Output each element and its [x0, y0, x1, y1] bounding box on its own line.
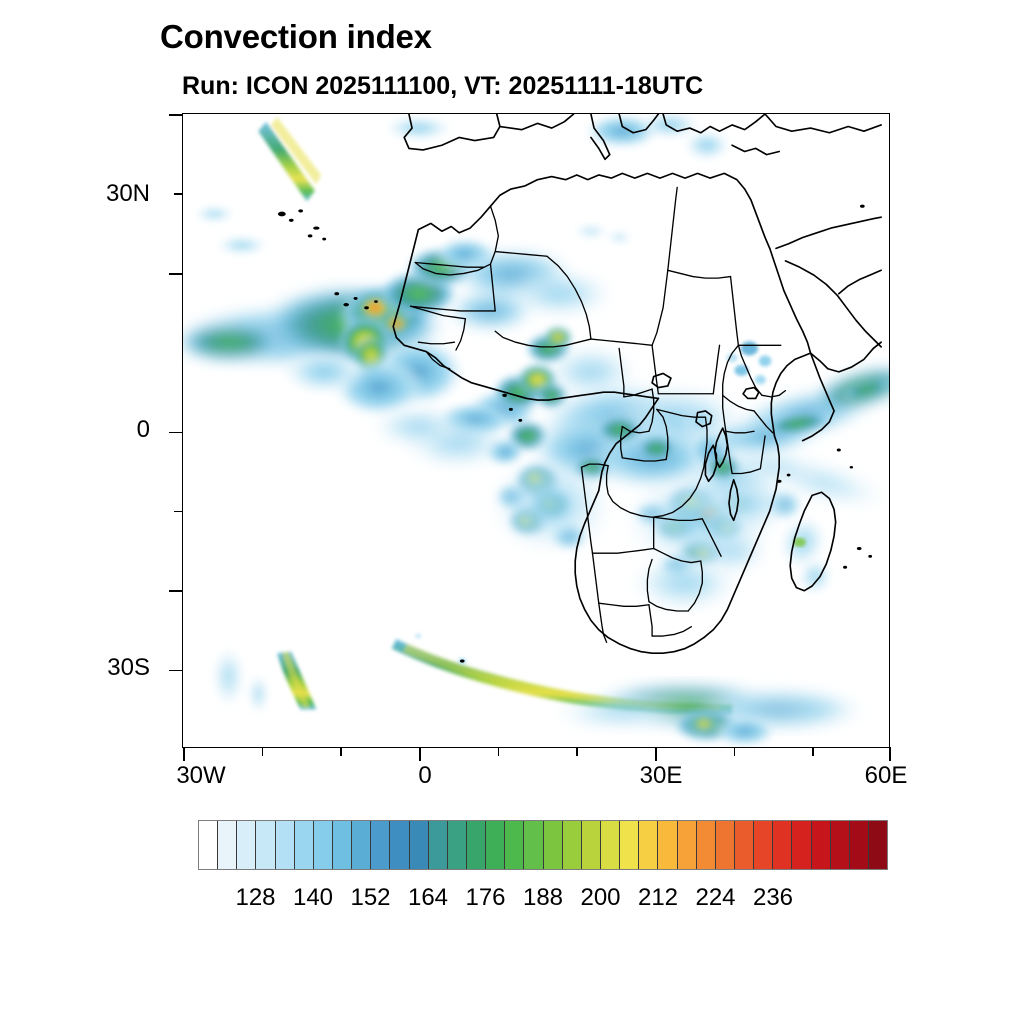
colorbar-cell-26 [697, 821, 716, 869]
colorbar-cell-25 [678, 821, 697, 869]
colorbar-cell-18 [544, 821, 563, 869]
x-tick-30E [655, 747, 657, 761]
x-axis-label-60E: 60E [865, 762, 908, 790]
x-tick-20E [576, 747, 578, 756]
colorbar-cell-15 [486, 821, 505, 869]
colorbar-label-188: 188 [523, 884, 563, 912]
colorbar-label-152: 152 [350, 884, 390, 912]
x-tick-60E [889, 747, 891, 761]
colorbar-cell-29 [754, 821, 773, 869]
colorbar-cell-28 [735, 821, 754, 869]
colorbar-label-140: 140 [293, 884, 333, 912]
x-tick-50E [812, 747, 814, 756]
y-tick-20N [174, 193, 183, 195]
y-tick-10N [169, 273, 183, 275]
y-tick-10S [174, 511, 183, 513]
colorbar-label-224: 224 [695, 884, 735, 912]
colorbar-cell-27 [716, 821, 735, 869]
map-canvas [183, 114, 889, 747]
colorbar-label-176: 176 [465, 884, 505, 912]
colorbar[interactable] [198, 820, 888, 870]
colorbar-cell-20 [582, 821, 601, 869]
colorbar-cell-10 [390, 821, 409, 869]
y-tick-20S [169, 590, 183, 592]
colorbar-cell-17 [524, 821, 543, 869]
colorbar-cell-13 [448, 821, 467, 869]
x-axis-label-30E: 30E [640, 762, 683, 790]
page-title: Convection index [160, 18, 432, 56]
colorbar-cell-23 [639, 821, 658, 869]
colorbar-cell-6 [314, 821, 333, 869]
colorbar-label-164: 164 [408, 884, 448, 912]
colorbar-cell-0 [199, 821, 218, 869]
colorbar-cell-19 [563, 821, 582, 869]
x-tick-30W [183, 747, 185, 761]
colorbar-cell-21 [601, 821, 620, 869]
y-tick-30N [169, 114, 183, 116]
colorbar-cell-11 [410, 821, 429, 869]
x-tick-40E [734, 747, 736, 756]
colorbar-cell-8 [352, 821, 371, 869]
colorbar-cell-24 [658, 821, 677, 869]
y-tick-30S [169, 670, 183, 672]
colorbar-cell-5 [295, 821, 314, 869]
y-tick-0 [169, 432, 183, 434]
colorbar-cell-35 [869, 821, 887, 869]
colorbar-cell-34 [850, 821, 869, 869]
colorbar-label-200: 200 [580, 884, 620, 912]
y-axis-label-30S: 30S [98, 654, 150, 682]
x-axis-label-0: 0 [418, 762, 431, 790]
colorbar-cell-14 [467, 821, 486, 869]
colorbar-cell-1 [218, 821, 237, 869]
colorbar-cell-16 [505, 821, 524, 869]
x-tick-10W [340, 747, 342, 756]
page-subtitle: Run: ICON 2025111100, VT: 20251111-18UTC [182, 72, 703, 101]
colorbar-label-212: 212 [638, 884, 678, 912]
colorbar-cell-7 [333, 821, 352, 869]
colorbar-cell-30 [773, 821, 792, 869]
x-tick-0 [419, 747, 421, 761]
map-plot-area[interactable] [182, 113, 890, 748]
x-axis-label-30W: 30W [176, 762, 225, 790]
colorbar-cell-3 [256, 821, 275, 869]
colorbar-label-236: 236 [753, 884, 793, 912]
colorbar-cell-4 [276, 821, 295, 869]
colorbar-cell-2 [237, 821, 256, 869]
colorbar-cell-32 [812, 821, 831, 869]
x-tick-20W [262, 747, 264, 756]
colorbar-cell-33 [831, 821, 850, 869]
colorbar-label-128: 128 [235, 884, 275, 912]
x-tick-10E [498, 747, 500, 756]
colorbar-cell-9 [371, 821, 390, 869]
convection-index-map-page: Convection index Run: ICON 2025111100, V… [0, 0, 1024, 1024]
colorbar-cell-12 [429, 821, 448, 869]
colorbar-cell-22 [620, 821, 639, 869]
colorbar-cells[interactable] [198, 820, 888, 870]
y-axis-label-30N: 30N [98, 180, 150, 208]
y-axis-label-0: 0 [98, 416, 150, 444]
colorbar-cell-31 [792, 821, 811, 869]
